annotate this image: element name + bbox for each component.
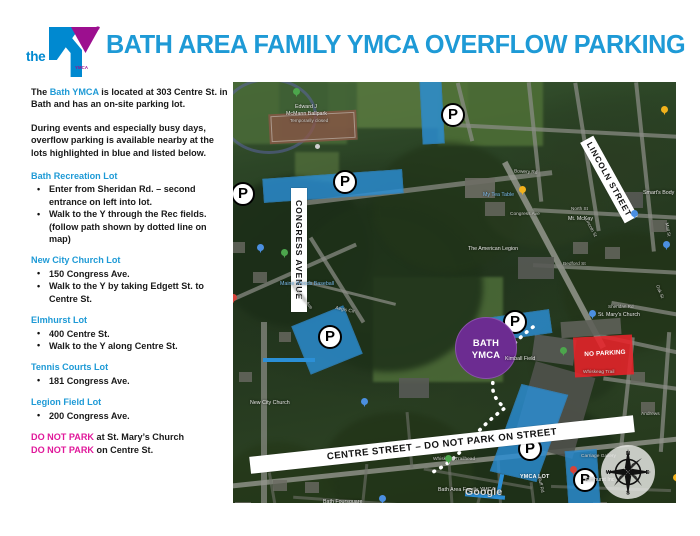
map-place-label: McMann Ballpark [286,111,327,117]
warning-emphasis: DO NOT PARK [31,432,94,442]
list-item: 400 Centre St. [47,328,229,340]
map-place-label: Bedford St [563,262,586,267]
map-building [518,257,554,279]
map-pin-blue[interactable] [361,398,368,407]
map-house [605,247,620,259]
page-title: BATH AREA FAMILY YMCA OVERFLOW PARKING [106,31,685,60]
map-place-label: New City Church [250,400,290,406]
bath-ymca-link[interactable]: Bath YMCA [50,87,99,97]
map-house [305,482,319,493]
map-place-label: Andrews [641,412,660,417]
lot-heading-elmhurst: Elmhurst Lot [31,314,229,326]
list-item: 200 Congress Ave. [47,410,229,422]
list-item: Walk to the Y along Centre St. [47,340,229,352]
map-pin-green[interactable] [293,88,300,97]
compass-icon: N E S W [601,445,655,499]
map-pin-yellow[interactable] [519,186,526,195]
map-place-label: Sheridan Rd [608,304,634,309]
map-place-label: North St [571,206,588,211]
list-item: Walk to the Y by taking Edgett St. to Ce… [47,280,229,305]
map-pin-blue[interactable] [663,241,670,250]
map-marker-dot[interactable] [315,144,320,149]
warning-emphasis: DO NOT PARK [31,445,94,455]
lot-bullets-legion-field: 200 Congress Ave. [31,410,229,422]
lot-bullets-bath-recreation: Enter from Sheridan Rd. – second entranc… [31,183,229,245]
map-house [233,242,245,253]
intro-paragraph: The Bath YMCA is located at 303 Centre S… [31,86,229,111]
parking-marker-new-city-church[interactable]: P [318,325,342,349]
map-place-label: Maine Woods Baseball [280,281,334,287]
instructions-panel: The Bath YMCA is located at 303 Centre S… [31,86,229,456]
logo-ymca-wordmark: YMCA [75,65,88,70]
overflow-paragraph: During events and especially busy days, … [31,122,229,159]
map-place-label: Whiskeag Trail [583,370,614,375]
warning-row: DO NOT PARK at St. Mary’s Church [31,431,229,444]
map-place-label: Temporarily closed [290,118,328,123]
overflow-parking-map[interactable]: YMCA LOT NO PARKING P P P P P P P BATH Y… [233,82,676,503]
lot-bullets-tennis-courts: 181 Congress Ave. [31,375,229,387]
map-place-label: Bath Foursquare [323,499,362,503]
map-place-label: Edward J [295,104,317,110]
map-house [235,502,251,503]
map-place-label: Whiskeag Trailhead [433,457,475,462]
map-pin-red[interactable] [570,466,577,475]
map-pin-blue[interactable] [589,310,596,319]
map-pin-blue[interactable] [257,244,264,253]
ymca-marker-line1: BATH [456,337,516,349]
map-house [273,480,287,491]
map-pin-yellow[interactable] [673,474,676,483]
google-watermark: Google [465,486,502,498]
lot-heading-new-city-church: New City Church Lot [31,254,229,266]
ymca-lot-label: YMCA LOT [520,474,550,480]
warning-text: at St. Mary’s Church [94,432,184,442]
map-pin-red[interactable] [233,294,237,303]
poster-root: the ® YMCA BATH AREA FAMILY YMCA OVERFLO… [0,0,700,536]
map-pin-green[interactable] [281,249,288,258]
svg-text:E: E [646,470,650,476]
map-house [239,372,252,382]
parking-marker-tennis-courts[interactable]: P [441,103,465,127]
warning-text: on Centre St. [94,445,153,455]
map-pin-green[interactable] [445,455,452,464]
lot-heading-tennis-courts: Tennis Courts Lot [31,361,229,373]
ymca-logo: the ® YMCA [26,27,100,77]
lot-bullets-new-city-church: 150 Congress Ave. Walk to the Y by takin… [31,268,229,305]
svg-text:N: N [626,451,630,457]
list-item: 150 Congress Ave. [47,268,229,280]
do-not-park-warnings: DO NOT PARK at St. Mary’s Church DO NOT … [31,431,229,456]
map-house [485,202,505,216]
map-place-label: The American Legion [468,246,518,252]
compass-rose: N E S W [601,445,655,499]
list-item: Walk to the Y through the Rec fields. (f… [47,208,229,245]
lot-heading-legion-field: Legion Field Lot [31,396,229,408]
lot-connector-line [263,358,315,362]
map-pin-blue[interactable] [379,495,386,503]
map-house [253,272,267,283]
map-place-label: Congress Ave [510,212,540,217]
map-place-label: My Tea Table [483,192,514,198]
map-house [573,242,588,254]
lot-bullets-elmhurst: 400 Centre St. Walk to the Y along Centr… [31,328,229,353]
map-pin-blue[interactable] [631,210,638,219]
map-pin-green[interactable] [560,347,567,356]
map-place-label: Kimball Field [505,356,535,362]
logo-trademark-symbol: ® [96,26,100,32]
map-house [279,332,291,342]
svg-text:W: W [606,470,612,476]
intro-lead: The [31,87,50,97]
map-building [399,378,429,398]
parking-marker-rec-lot[interactable]: P [333,170,357,194]
map-pin-yellow[interactable] [661,106,668,115]
list-item: Enter from Sheridan Rd. – second entranc… [47,183,229,208]
warning-row: DO NOT PARK on Centre St. [31,444,229,457]
poster-header: the ® YMCA BATH AREA FAMILY YMCA OVERFLO… [0,0,700,82]
lot-heading-bath-recreation: Bath Recreation Lot [31,170,229,182]
map-place-label: St. Mary's Church [598,312,640,318]
map-road [261,322,267,503]
list-item: 181 Congress Ave. [47,375,229,387]
map-place-label: Smart's Body Shop [643,190,676,196]
logo-the-text: the [26,49,45,64]
bath-ymca-marker[interactable]: BATH YMCA [455,317,517,379]
svg-text:S: S [626,491,630,497]
